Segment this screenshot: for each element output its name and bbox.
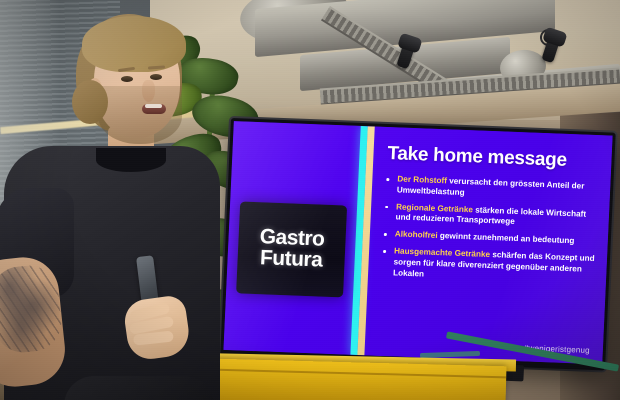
list-item: Hausgemachte Getränke schärfen das Konze… xyxy=(382,246,595,287)
list-item: Regionale Getränke stärken die lokale Wi… xyxy=(384,202,597,232)
shirt-fold xyxy=(64,376,214,400)
slide-bullet-list: Der Rohstoff verursacht den grössten Ant… xyxy=(382,174,599,287)
list-item: Der Rohstoff verursacht den grössten Ant… xyxy=(386,174,599,204)
list-item: Alkoholfrei gewinnt zunehmend an bedeutu… xyxy=(384,229,596,248)
slide-title: Take home message xyxy=(387,143,600,173)
tv-screen: Gastro Futura Take home message Der Rohs… xyxy=(223,121,612,364)
television: Gastro Futura Take home message Der Rohs… xyxy=(220,118,616,371)
slide-content-panel: Take home message Der Rohstoff verursach… xyxy=(364,127,612,365)
beard xyxy=(98,86,182,144)
bullet-text: gewinnt zunehmend an bedeutung xyxy=(437,231,574,245)
bullet-highlight: Alkoholfrei xyxy=(395,230,438,241)
bullet-highlight: Regionale Getränke xyxy=(396,202,473,214)
eye-right xyxy=(150,74,162,80)
nose xyxy=(142,80,155,102)
photo-scene: Gastro Futura Take home message Der Rohs… xyxy=(0,0,620,400)
logo-line-2: Futura xyxy=(260,249,323,271)
shirt-collar xyxy=(96,148,166,172)
eye-left xyxy=(121,76,133,82)
teeth xyxy=(145,104,162,108)
presentation-slide: Gastro Futura Take home message Der Rohs… xyxy=(223,121,612,364)
presenter xyxy=(0,8,260,400)
hair-front xyxy=(82,16,186,72)
bullet-highlight: Der Rohstoff xyxy=(397,174,447,185)
hair-bun xyxy=(72,80,108,124)
